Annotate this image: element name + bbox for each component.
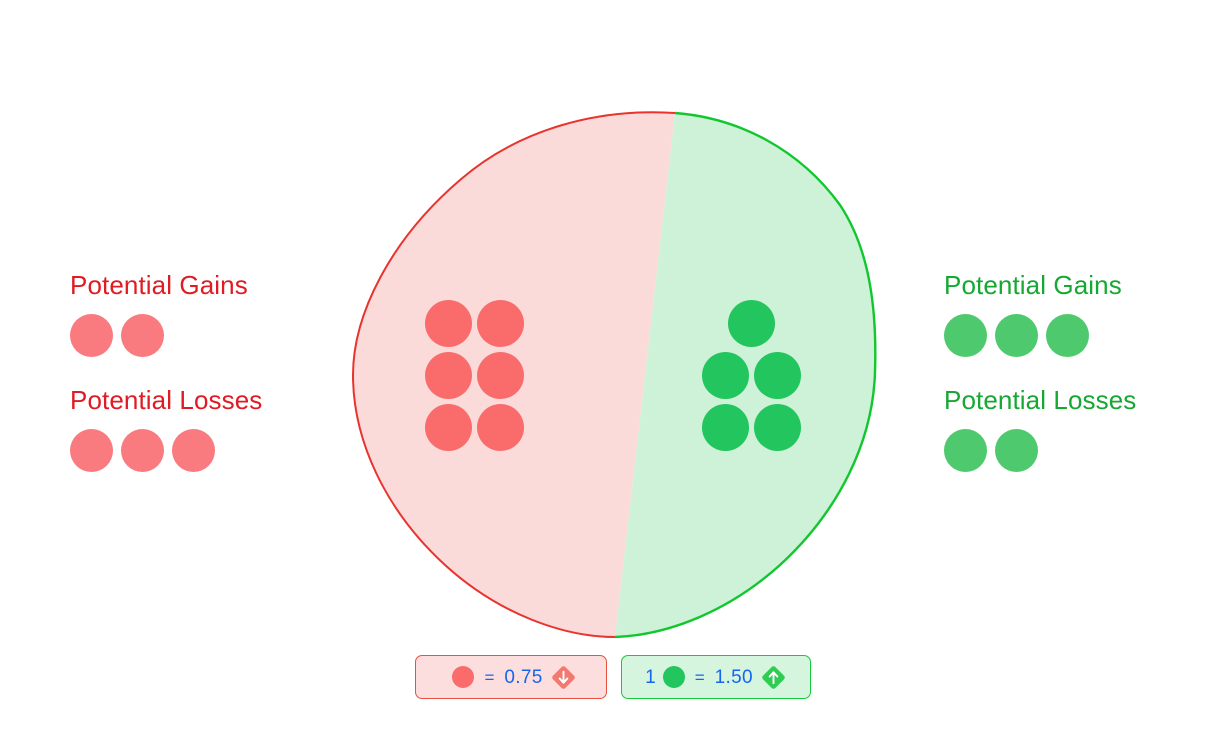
legend-green-equals: = [695, 669, 705, 686]
center-red-dot [425, 404, 472, 451]
infographic-canvas: Potential Gains Potential Losses [0, 0, 1226, 737]
left-loss-dot [70, 429, 113, 472]
left-loss-dot [172, 429, 215, 472]
center-green-dot-cluster [702, 300, 801, 451]
center-red-dot [425, 352, 472, 399]
center-green-dot [754, 352, 801, 399]
legend-green-count: 1 [645, 668, 656, 687]
right-gain-dot [995, 314, 1038, 357]
legend-green-value: 1.50 [715, 668, 753, 687]
right-potential-losses-dots [944, 429, 1226, 472]
legend-red-value: 0.75 [504, 668, 542, 687]
legend-red-equals: = [484, 669, 494, 686]
center-green-dot-row [702, 404, 801, 451]
split-circle-chart [350, 110, 878, 640]
right-potential-gains-dots [944, 314, 1226, 357]
right-potential-losses-group: Potential Losses [944, 383, 1226, 472]
left-gain-dot [70, 314, 113, 357]
center-green-dot-row [702, 352, 801, 399]
down-arrow-diamond-icon [550, 664, 577, 691]
center-green-dot [754, 404, 801, 451]
center-red-dot [477, 352, 524, 399]
right-gain-dot [944, 314, 987, 357]
center-green-dot [702, 352, 749, 399]
center-red-dot [425, 300, 472, 347]
center-green-dot-row [728, 300, 775, 347]
center-red-dot [477, 300, 524, 347]
legend-red-dot-icon [452, 666, 474, 688]
right-potential-losses-label: Potential Losses [944, 383, 1226, 417]
legend-item-green[interactable]: 1 = 1.50 [621, 655, 811, 699]
legend-item-red[interactable]: = 0.75 [415, 655, 607, 699]
legend-green-dot-icon [663, 666, 685, 688]
center-red-dot-cluster [425, 300, 524, 451]
center-green-dot [702, 404, 749, 451]
right-potential-gains-label: Potential Gains [944, 268, 1226, 302]
up-arrow-diamond-icon [760, 664, 787, 691]
center-red-dot [477, 404, 524, 451]
right-panel: Potential Gains Potential Losses [944, 268, 1226, 498]
center-red-dot-row [425, 404, 524, 451]
right-loss-dot [944, 429, 987, 472]
right-gain-dot [1046, 314, 1089, 357]
legend: = 0.75 1 = 1.50 [415, 655, 811, 699]
left-gain-dot [121, 314, 164, 357]
right-loss-dot [995, 429, 1038, 472]
left-loss-dot [121, 429, 164, 472]
right-potential-gains-group: Potential Gains [944, 268, 1226, 357]
center-red-dot-row [425, 300, 524, 347]
center-red-dot-row [425, 352, 524, 399]
center-green-dot [728, 300, 775, 347]
